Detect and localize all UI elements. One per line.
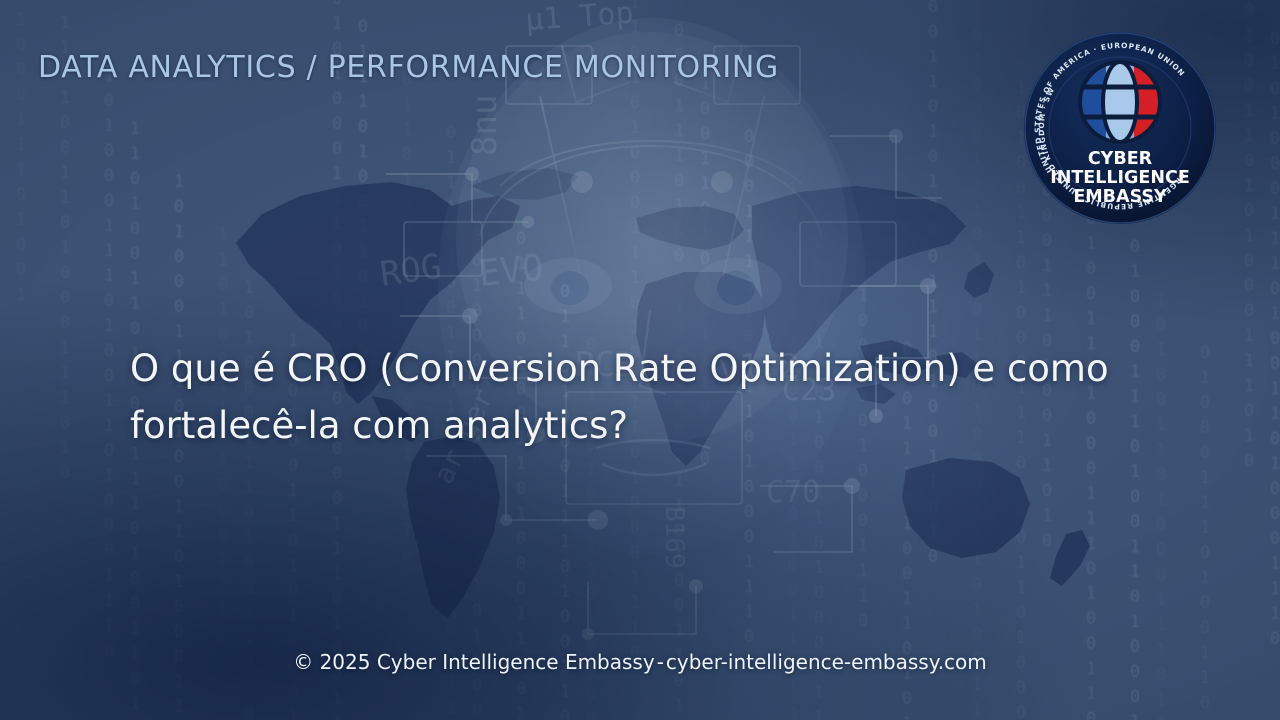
badge-wordmark-line1: CYBER: [1088, 149, 1153, 169]
cyber-intelligence-embassy-logo[interactable]: UNITED STATES OF AMERICA · EUROPEAN UNIO…: [1022, 30, 1218, 226]
slide-title: O que é CRO (Conversion Rate Optimizatio…: [130, 340, 1140, 455]
slide-footer: © 2025 Cyber Intelligence Embassy-cyber-…: [0, 650, 1280, 674]
slide-kicker: DATA ANALYTICS / PERFORMANCE MONITORING: [38, 50, 779, 85]
presentation-slide: 1010001110100111010011010001110101010001…: [0, 0, 1280, 720]
badge-wordmark-line2: INTELLIGENCE: [1050, 168, 1190, 188]
footer-separator: -: [655, 650, 666, 674]
globe-icon: [1076, 62, 1164, 142]
footer-copyright: © 2025 Cyber Intelligence Embassy: [293, 650, 654, 674]
badge-wordmark-line3: EMBASSY: [1073, 187, 1167, 207]
footer-website: cyber-intelligence-embassy.com: [666, 650, 987, 674]
